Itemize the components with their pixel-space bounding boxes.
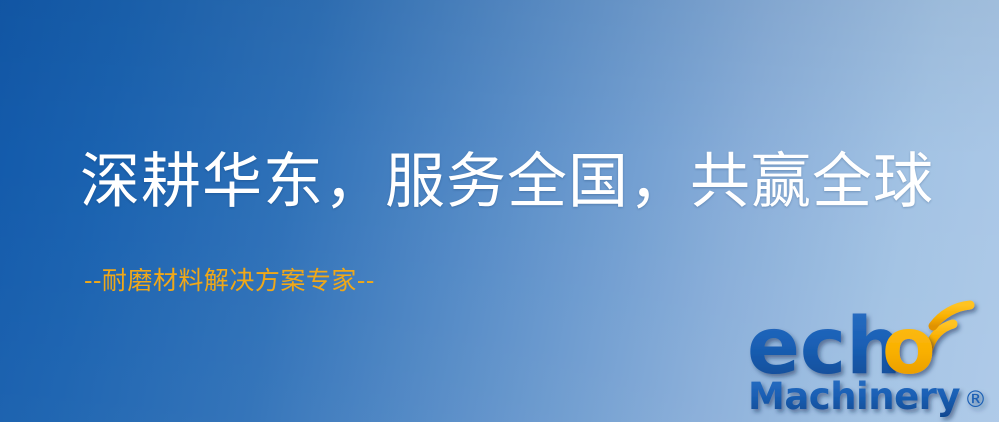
logo-machinery-text: Machinery bbox=[748, 375, 960, 418]
banner-subtitle: --耐磨材料解决方案专家-- bbox=[84, 268, 375, 293]
banner-headline: 深耕华东，服务全国，共赢全球 bbox=[80, 152, 934, 212]
logo-tagline: Machinery ® bbox=[748, 375, 987, 418]
echo-machinery-logo[interactable]: ech o Machinery ® bbox=[744, 292, 999, 422]
registered-mark-icon: ® bbox=[964, 387, 987, 413]
hero-banner: 深耕华东，服务全国，共赢全球 --耐磨材料解决方案专家-- bbox=[0, 0, 999, 422]
